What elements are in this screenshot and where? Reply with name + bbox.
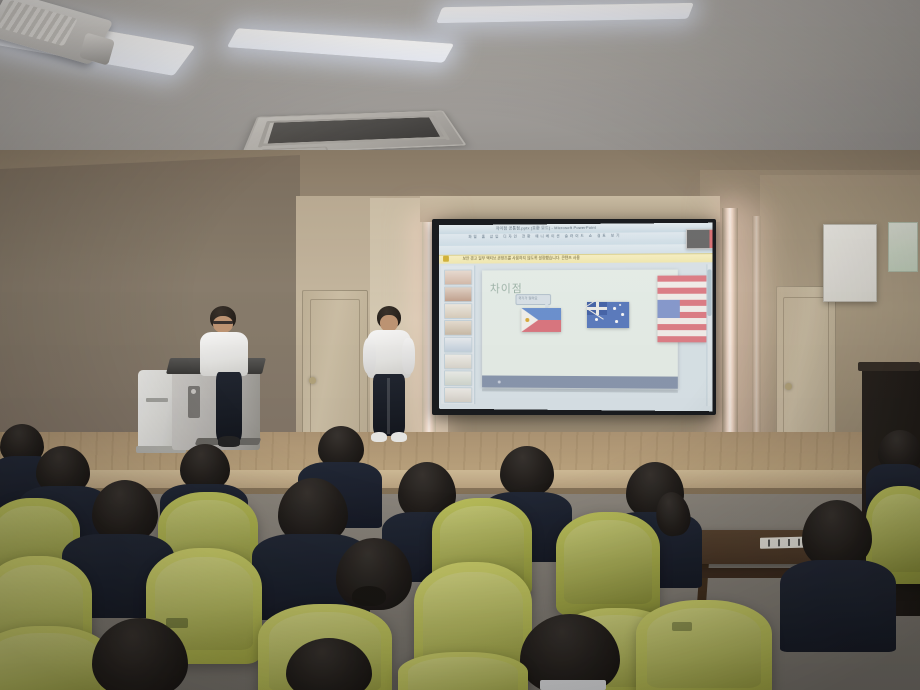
auditorium-photo: 人 인성교육 차이점 공통점.pptx [호환 모드] - Microsoft … xyxy=(0,0,920,690)
presenter-standing-pants-stripe xyxy=(387,378,390,434)
notice-poster xyxy=(888,222,918,272)
presenter-standing-arm-right xyxy=(402,338,415,374)
slide-corner-image xyxy=(686,229,713,250)
student-body xyxy=(780,560,896,652)
usa-flag xyxy=(657,275,706,342)
powerpoint-title-text: 차이점 공통점.pptx [호환 모드] - Microsoft PowerPo… xyxy=(496,225,596,232)
presenter-podium-shirt xyxy=(200,332,248,376)
australia-flag xyxy=(587,302,629,328)
seat-fabric-mark xyxy=(672,622,692,631)
seat-fabric-mark xyxy=(166,618,188,628)
presenter-podium-glasses xyxy=(213,321,233,324)
slide-thumbnail[interactable] xyxy=(444,387,472,403)
student-head xyxy=(92,480,158,542)
philippines-flag-sun xyxy=(525,318,529,322)
dark-wood-cabinet-top xyxy=(858,362,920,371)
slide-thumbnail[interactable] xyxy=(444,303,472,319)
wall-light-strip-right-2 xyxy=(752,216,761,452)
security-warning-text: 보안 경고 일부 액티브 콘텐츠를 사용하지 않도록 설정했습니다. 콘텐츠 사… xyxy=(463,255,580,261)
projection-screen: 차이점 공통점.pptx [호환 모드] - Microsoft PowerPo… xyxy=(439,223,712,412)
presenter-podium-shoes xyxy=(218,436,240,447)
air-purifier-badge xyxy=(146,398,168,402)
presenter-standing xyxy=(360,306,418,452)
warning-icon xyxy=(443,256,449,262)
presenter-podium-trousers xyxy=(216,372,242,442)
philippines-flag-triangle xyxy=(521,308,538,332)
auditorium-seat[interactable] xyxy=(556,512,660,616)
speech-bubble-text: 국기가 달라요 xyxy=(518,296,537,300)
australia-flag-star xyxy=(615,320,618,323)
presenter-at-podium xyxy=(196,306,256,452)
presenter-podium-face xyxy=(213,316,233,333)
calligraphy-poster: 人 인성교육 xyxy=(823,224,877,302)
slide-footer-bar xyxy=(482,375,678,388)
philippines-flag xyxy=(521,308,561,332)
australia-flag-union-jack xyxy=(587,302,607,315)
hair-bow xyxy=(352,586,386,606)
australia-flag-star xyxy=(619,304,621,306)
auditorium-seat[interactable] xyxy=(636,600,772,690)
australia-flag-star xyxy=(595,318,598,321)
usa-flag-canton xyxy=(657,300,679,318)
slide-footer-marker xyxy=(498,381,501,384)
presenter-standing-arm-left xyxy=(363,338,376,374)
australia-flag-star xyxy=(613,307,616,310)
slide-thumbnail[interactable] xyxy=(444,354,472,370)
slide-thumbnail[interactable] xyxy=(444,370,472,386)
student-head xyxy=(500,446,554,496)
slide-thumbnail[interactable] xyxy=(444,286,472,302)
slide-thumbnail[interactable] xyxy=(444,337,472,353)
australia-flag-star xyxy=(621,313,624,316)
slide-thumbnail[interactable] xyxy=(444,320,472,336)
auditorium-seat[interactable] xyxy=(398,652,528,690)
presenter-standing-shoe-right xyxy=(391,432,407,442)
presenter-standing-shoe-left xyxy=(371,432,387,442)
slide-thumbnail-rail[interactable] xyxy=(441,266,475,405)
slide-thumbnail[interactable] xyxy=(444,269,472,285)
powerpoint-scrollbar-thumb[interactable] xyxy=(707,269,711,316)
student-collar xyxy=(540,680,606,690)
